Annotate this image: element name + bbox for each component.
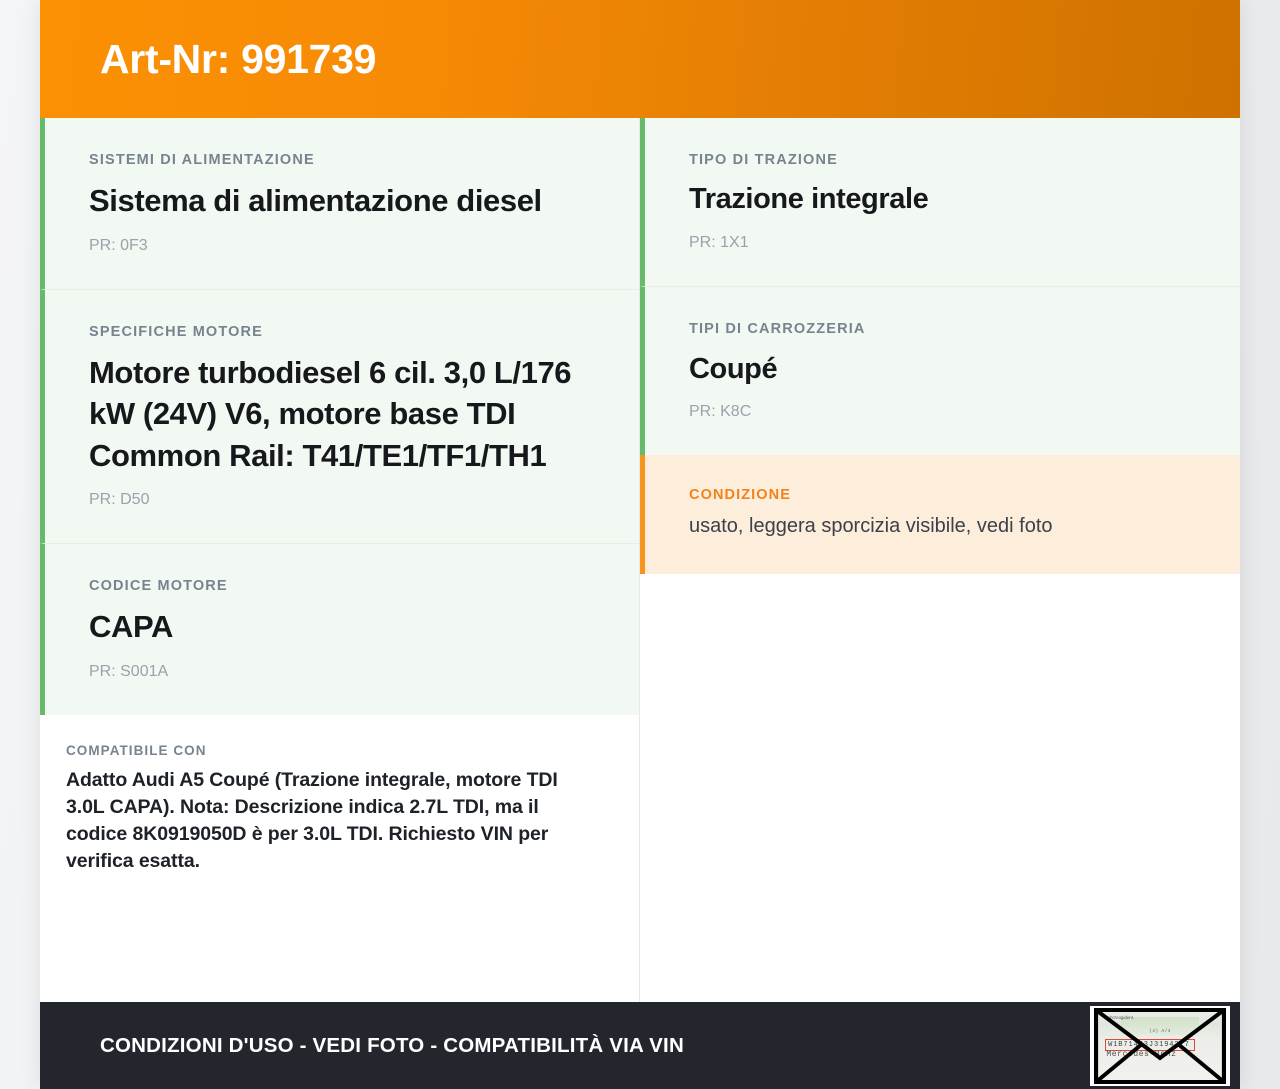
vin-document-thumbnail[interactable]: Fahrzeugident. (4) A/4 W1B71463J31942 7 … [1090,1006,1230,1086]
right-column: TIPO DI TRAZIONE Trazione integrale PR: … [640,118,1240,1002]
spec-value: Sistema di alimentazione diesel [89,180,595,221]
spec-pr-code: PR: K8C [689,402,1196,421]
spec-pr-code: PR: S001A [89,662,595,681]
page-title: Art-Nr: 991739 [100,39,376,80]
condition-card: CONDIZIONE usato, leggera sporcizia visi… [640,455,1240,574]
footer-bar: CONDIZIONI D'USO - VEDI FOTO - COMPATIBI… [40,1002,1240,1089]
spec-label: SPECIFICHE MOTORE [89,324,595,341]
spec-pr-code: PR: 0F3 [89,236,595,255]
spec-label: TIPO DI TRAZIONE [689,152,1196,169]
left-column-filler [40,904,639,1002]
spec-pr-code: PR: 1X1 [689,233,1196,252]
spec-card-fuel-system: SISTEMI DI ALIMENTAZIONE Sistema di alim… [40,118,639,289]
condition-value: usato, leggera sporcizia visibile, vedi … [689,513,1196,540]
header-bar: Art-Nr: 991739 [40,0,1240,118]
compatibility-section: COMPATIBILE CON Adatto Audi A5 Coupé (Tr… [40,715,639,905]
spec-label: SISTEMI DI ALIMENTAZIONE [89,152,595,169]
spec-card-engine-code: CODICE MOTORE CAPA PR: S001A [40,543,639,715]
content-body: SISTEMI DI ALIMENTAZIONE Sistema di alim… [40,118,1240,1002]
spec-value: Motore turbodiesel 6 cil. 3,0 L/176 kW (… [89,352,595,476]
spec-card-drive-type: TIPO DI TRAZIONE Trazione integrale PR: … [640,118,1240,286]
spec-card-body-type: TIPI DI CARROZZERIA Coupé PR: K8C [640,286,1240,455]
spec-label: TIPI DI CARROZZERIA [689,321,1196,338]
spec-pr-code: PR: D50 [89,490,595,509]
spec-value: CAPA [89,606,595,647]
spec-value: Trazione integrale [689,180,1196,219]
compatibility-label: COMPATIBILE CON [66,743,595,758]
right-column-filler [640,574,1240,1002]
page-root: Art-Nr: 991739 SISTEMI DI ALIMENTAZIONE … [0,0,1280,1089]
spec-card-engine-specs: SPECIFICHE MOTORE Motore turbodiesel 6 c… [40,289,639,543]
article-card: Art-Nr: 991739 SISTEMI DI ALIMENTAZIONE … [40,0,1240,1089]
spec-label: CODICE MOTORE [89,578,595,595]
footer-text: CONDIZIONI D'USO - VEDI FOTO - COMPATIBI… [100,1034,684,1058]
compatibility-text: Adatto Audi A5 Coupé (Trazione integrale… [66,767,595,875]
spec-value: Coupé [689,350,1196,389]
envelope-icon [1090,1006,1230,1086]
left-column: SISTEMI DI ALIMENTAZIONE Sistema di alim… [40,118,640,1002]
condition-label: CONDIZIONE [689,487,1196,503]
